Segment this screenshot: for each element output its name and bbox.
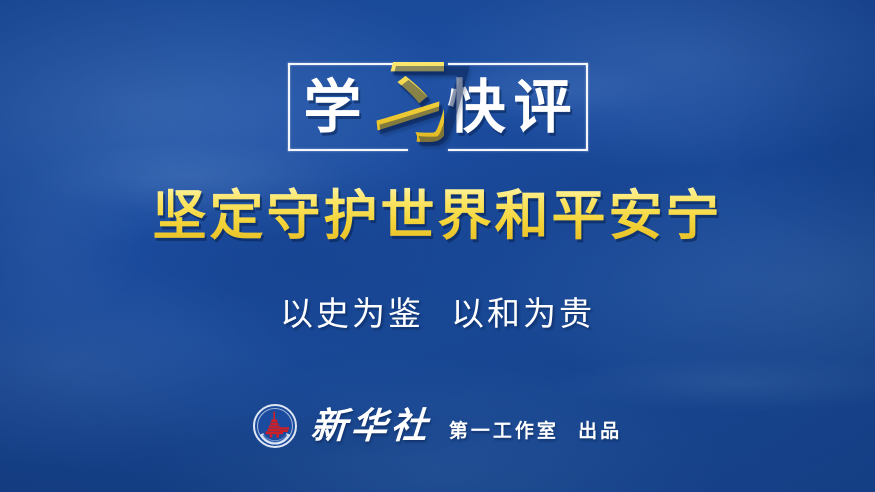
- program-title-char-1: 学: [300, 78, 366, 136]
- agency-name-text: 新华社: [310, 408, 433, 444]
- subtitle-text: 以史为鉴 以和为贵: [0, 294, 875, 334]
- program-title-char-4: 评: [510, 78, 576, 136]
- program-brand-frame: 学 习 快 评: [288, 52, 588, 164]
- headline-text: 坚定守护世界和平安宁: [0, 186, 875, 245]
- studio-credit-text: 第一工作室 出品: [449, 422, 622, 441]
- footer-credit-row: 新华社 第一工作室 出品: [0, 404, 875, 448]
- program-title-characters: 学 习 快 评: [288, 63, 588, 151]
- poster-content: 学 习 快 评 坚定守护世界和平安宁 以史为鉴 以和为贵: [0, 0, 875, 492]
- program-title-char-2-gold: 习: [366, 57, 444, 149]
- xinhua-tower-emblem-icon: [253, 404, 297, 448]
- program-brand-block: 学 习 快 评: [0, 52, 875, 164]
- poster-canvas: 学 习 快 评 坚定守护世界和平安宁 以史为鉴 以和为贵: [0, 0, 875, 492]
